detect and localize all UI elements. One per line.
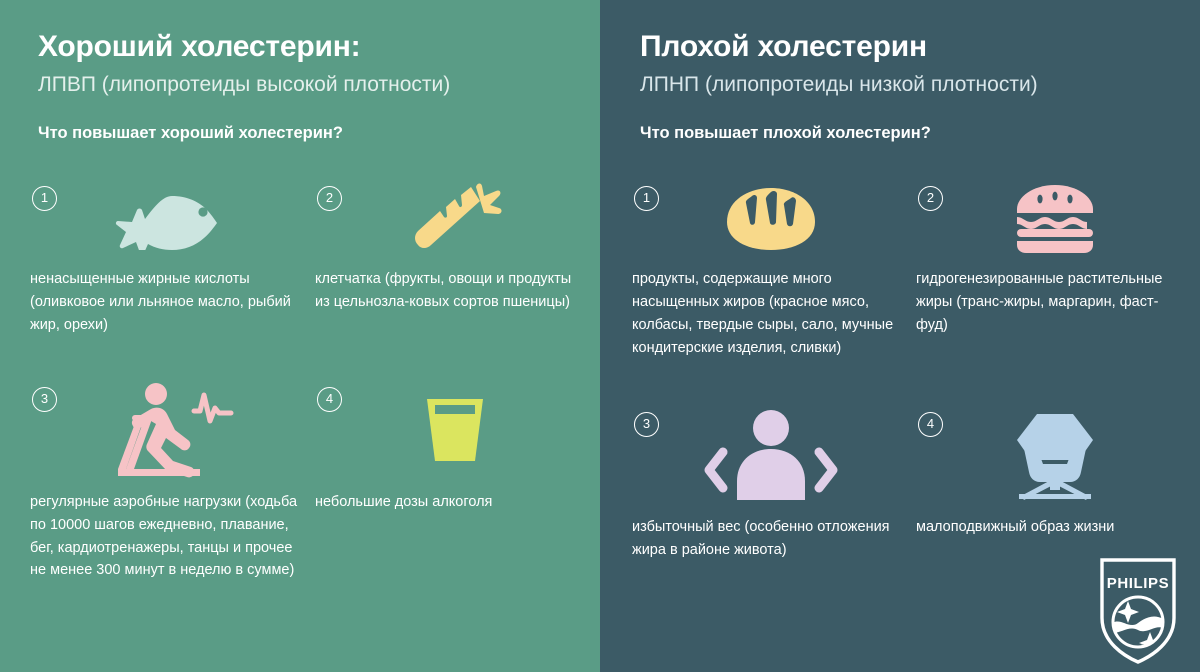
item-number-badge: 2: [918, 186, 943, 211]
good-question: Что повышает хороший холестерин?: [38, 124, 600, 143]
bad-item-2: 2 гидрогенезированные растительные жи: [916, 178, 1200, 360]
good-item-4: 4 небольшие дозы алкоголя: [315, 379, 600, 583]
fish-icon: [30, 178, 315, 260]
bad-title: Плохой холестерин: [640, 30, 1200, 65]
bad-item-3: 3 избыточный вес (особенно отложения жир…: [632, 404, 916, 562]
bad-row-1: 1 продукты, содержащие много насыщенных …: [632, 178, 1200, 360]
bad-subtitle: ЛПНП (липопротеиды низкой плотности): [640, 71, 1200, 98]
bad-item-1: 1 продукты, содержащие много насыщенных …: [632, 178, 916, 360]
good-item-2: 2 клетчатка (фрукты, овощи и продукты из…: [315, 178, 600, 337]
good-items-grid: 1 ненасыщенные жирные кислоты (оливковое…: [0, 178, 600, 582]
item-number-badge: 4: [317, 387, 342, 412]
item-number-badge: 3: [634, 412, 659, 437]
item-number-badge: 1: [32, 186, 57, 211]
good-cholesterol-panel: Хороший холестерин: ЛПВП (липопротеиды в…: [0, 0, 600, 672]
good-row-2: 3 регулярные аэробные нагрузки (ходьб: [30, 379, 600, 583]
treadmill-icon: [30, 379, 315, 483]
bad-cholesterol-panel: Плохой холестерин ЛПНП (липопротеиды низ…: [600, 0, 1200, 672]
item-number-badge: 4: [918, 412, 943, 437]
philips-wordmark: PHILIPS: [1107, 575, 1170, 592]
good-subtitle: ЛПВП (липопротеиды высокой плотности): [38, 71, 600, 98]
item-number-badge: 1: [634, 186, 659, 211]
good-item-2-text: клетчатка (фрукты, овощи и продукты из ц…: [315, 268, 600, 314]
good-item-3-text: регулярные аэробные нагрузки (ходьба по …: [30, 491, 315, 583]
good-item-1-text: ненасыщенные жирные кислоты (оливковое и…: [30, 268, 315, 337]
item-number-badge: 2: [317, 186, 342, 211]
bad-header: Плохой холестерин ЛПНП (липопротеиды низ…: [600, 0, 1200, 143]
good-item-4-text: небольшие дозы алкоголя: [315, 491, 600, 514]
item-number-badge: 3: [32, 387, 57, 412]
bad-items-grid: 1 продукты, содержащие много насыщенных …: [600, 178, 1200, 561]
bad-item-4: 4 малоподвижный образ жизни: [916, 404, 1200, 562]
bad-item-4-text: малоподвижный образ жизни: [916, 516, 1200, 539]
glass-icon: [315, 379, 600, 483]
good-title: Хороший холестерин:: [38, 30, 600, 65]
bad-item-3-text: избыточный вес (особенно отложения жира …: [632, 516, 916, 562]
burger-icon: [916, 178, 1200, 260]
good-item-1: 1 ненасыщенные жирные кислоты (оливковое…: [30, 178, 315, 337]
philips-shield-logo: PHILIPS: [1098, 558, 1178, 664]
good-row-1: 1 ненасыщенные жирные кислоты (оливковое…: [30, 178, 600, 337]
bad-item-2-text: гидрогенезированные растительные жиры (т…: [916, 268, 1200, 337]
bad-row-2: 3 избыточный вес (особенно отложения жир…: [632, 404, 1200, 562]
bad-question: Что повышает плохой холестерин?: [640, 124, 1200, 143]
bad-item-1-text: продукты, содержащие много насыщенных жи…: [632, 268, 916, 360]
good-item-3: 3 регулярные аэробные нагрузки (ходьб: [30, 379, 315, 583]
good-header: Хороший холестерин: ЛПВП (липопротеиды в…: [0, 0, 600, 143]
carrot-icon: [315, 178, 600, 260]
overweight-person-icon: [632, 404, 916, 508]
cholesterol-infographic: Хороший холестерин: ЛПВП (липопротеиды в…: [0, 0, 1200, 672]
bread-icon: [632, 178, 916, 260]
armchair-icon: [916, 404, 1200, 508]
